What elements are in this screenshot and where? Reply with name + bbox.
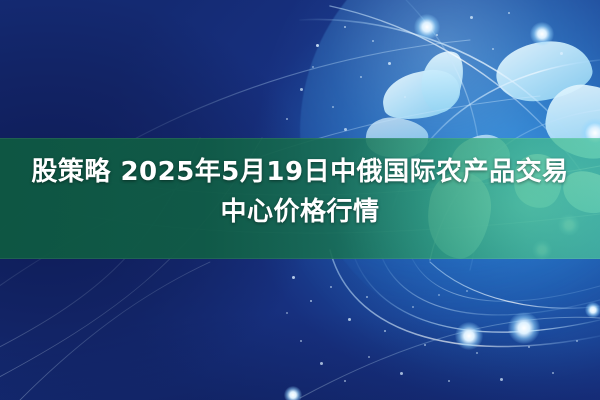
glow-node	[585, 302, 600, 318]
particle	[500, 378, 503, 381]
particle	[470, 16, 473, 19]
particle	[388, 62, 391, 65]
glow-node	[284, 386, 302, 400]
particle	[344, 128, 347, 131]
particle	[436, 34, 438, 36]
particle	[424, 344, 426, 346]
glow-node	[455, 322, 483, 350]
band-top-edge	[0, 138, 600, 139]
particle	[320, 362, 323, 365]
glow-node	[530, 22, 554, 46]
particle	[332, 106, 334, 108]
particle	[560, 52, 563, 55]
particle	[344, 380, 346, 382]
particle	[368, 356, 370, 358]
particle	[476, 352, 478, 354]
particle	[330, 286, 332, 288]
particle	[310, 300, 312, 302]
particle	[312, 66, 314, 68]
particle	[400, 372, 403, 375]
glow-node	[414, 14, 440, 40]
particle	[348, 318, 351, 321]
glow-node	[508, 312, 540, 344]
particle	[384, 330, 386, 332]
particle	[286, 312, 288, 314]
particle	[360, 76, 362, 78]
particle	[438, 294, 440, 296]
particle	[492, 48, 494, 50]
particle	[300, 88, 303, 91]
particle	[528, 346, 530, 348]
particle	[552, 372, 554, 374]
particle	[316, 44, 319, 47]
particle	[344, 26, 346, 28]
particle	[448, 380, 450, 382]
particle	[576, 340, 578, 342]
particle	[508, 12, 510, 14]
banner-image: 股策略 2025年5月19日中俄国际农产品交易中心价格行情	[0, 0, 600, 400]
particle	[466, 290, 468, 292]
particle	[292, 276, 295, 279]
particle	[404, 96, 406, 98]
particle	[366, 296, 368, 298]
particle	[286, 118, 288, 120]
particle	[412, 306, 414, 308]
band-bottom-edge	[0, 258, 600, 259]
page-title: 股策略 2025年5月19日中俄国际农产品交易中心价格行情	[0, 152, 600, 232]
particle	[300, 340, 302, 342]
particle	[372, 40, 374, 42]
